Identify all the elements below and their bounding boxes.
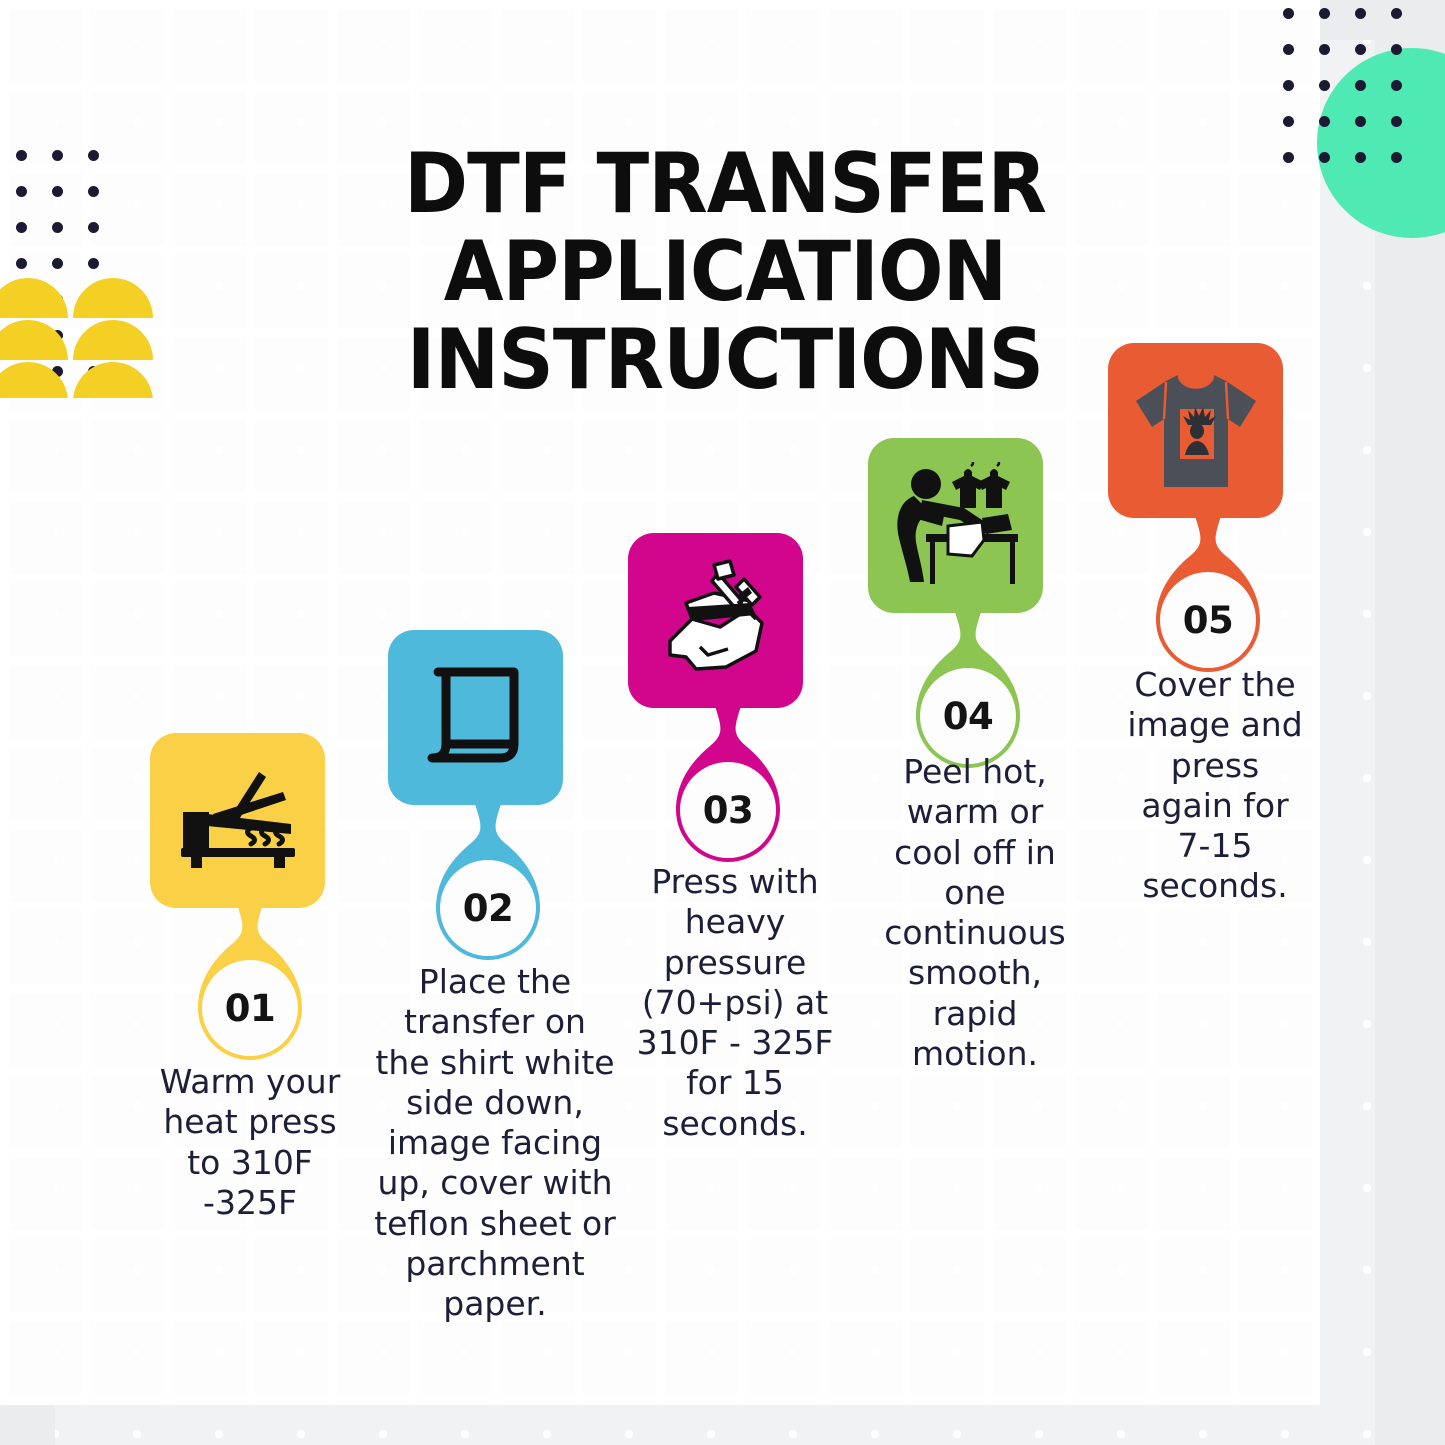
transfer-sheet-icon (418, 660, 534, 776)
step-04-caption: Peel hot, warm or cool off in one contin… (865, 752, 1085, 1074)
peeling-transfer-icon (886, 462, 1026, 590)
heat-press-open-icon (173, 766, 303, 876)
step-01-icon-card[interactable] (150, 733, 325, 908)
step-02-icon-card[interactable] (388, 630, 563, 805)
step-05-caption: Cover the image and press again for 7-15… (1110, 665, 1320, 907)
infographic-canvas: 01 Warm your heat press to 310F -325F 02… (0, 0, 1445, 1445)
step-05-number-badge: 05 (1160, 572, 1256, 668)
step-01-caption: Warm your heat press to 310F -325F (120, 1062, 380, 1223)
step-02-number-badge: 02 (440, 860, 536, 956)
step-04-icon-card[interactable] (868, 438, 1043, 613)
step-04-number-badge: 04 (920, 668, 1016, 764)
step-02-caption: Place the transfer on the shirt white si… (355, 962, 635, 1324)
step-03-number-badge: 03 (680, 762, 776, 858)
step-03-caption: Press with heavy pressure (70+psi) at 31… (615, 862, 855, 1144)
step-01-number-badge: 01 (202, 960, 298, 1056)
step-05-number: 05 (1183, 599, 1234, 642)
page-title: DTF TRANSFER APPLICATION INSTRUCTIONS (190, 140, 1260, 404)
step-02-number: 02 (463, 887, 514, 930)
step-04-number: 04 (943, 695, 994, 738)
step-03-icon-card[interactable] (628, 533, 803, 708)
step-01-number: 01 (225, 987, 276, 1030)
step-03-number: 03 (703, 789, 754, 832)
heat-press-machine-icon (652, 557, 780, 685)
